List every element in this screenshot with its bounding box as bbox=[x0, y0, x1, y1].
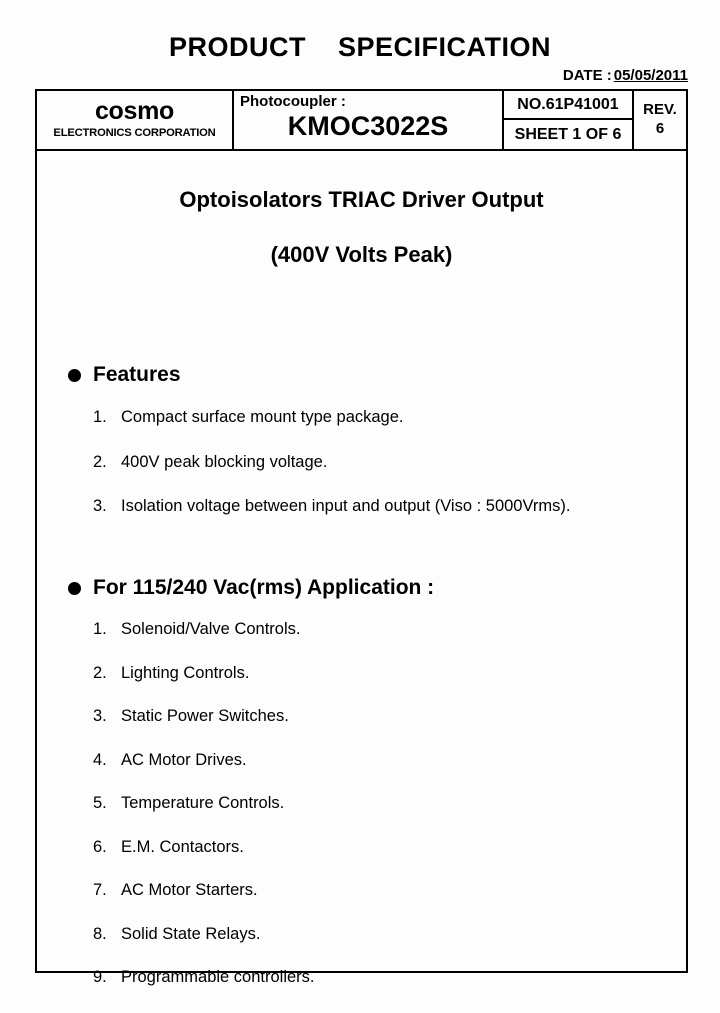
list-item-text: AC Motor Starters. bbox=[121, 882, 315, 899]
date-label: DATE : bbox=[563, 67, 612, 84]
list-item: 9. Programmable controllers. bbox=[93, 969, 315, 986]
list-item-number: 1. bbox=[93, 621, 121, 638]
list-item: 6. E.M. Contactors. bbox=[93, 839, 315, 856]
list-item-number: 4. bbox=[93, 752, 121, 769]
list-item: 8. Solid State Relays. bbox=[93, 926, 315, 943]
list-item: 2. 400V peak blocking voltage. bbox=[93, 454, 570, 471]
part-number: KMOC3022S bbox=[234, 111, 502, 142]
part-type-label: Photocoupler : bbox=[240, 93, 346, 110]
list-item-number: 2. bbox=[93, 665, 121, 682]
product-title-line-1: Optoisolators TRIAC Driver Output bbox=[37, 187, 686, 213]
list-item-number: 3. bbox=[93, 708, 121, 725]
sheet-frame: cosmo ELECTRONICS CORPORATION Photocoupl… bbox=[35, 89, 688, 973]
date-line: DATE :05/05/2011 bbox=[563, 67, 688, 84]
list-item-number: 8. bbox=[93, 926, 121, 943]
document-number-cell: NO.61P41001 SHEET 1 OF 6 bbox=[504, 91, 634, 149]
page-title: PRODUCT SPECIFICATION bbox=[0, 32, 720, 63]
revision-value: 6 bbox=[656, 120, 664, 139]
product-title-line-2: (400V Volts Peak) bbox=[37, 242, 686, 268]
date-value: 05/05/2011 bbox=[614, 67, 688, 84]
list-item-text: Solenoid/Valve Controls. bbox=[121, 621, 315, 638]
list-item-text: Temperature Controls. bbox=[121, 795, 315, 812]
applications-heading-label: For 115/240 Vac(rms) Application : bbox=[93, 576, 434, 600]
list-item-text: E.M. Contactors. bbox=[121, 839, 315, 856]
bullet-icon bbox=[68, 582, 81, 595]
applications-list: 1. Solenoid/Valve Controls. 2. Lighting … bbox=[93, 621, 315, 1013]
applications-heading: For 115/240 Vac(rms) Application : bbox=[68, 576, 434, 600]
list-item: 3. Isolation voltage between input and o… bbox=[93, 498, 570, 515]
company-cell: cosmo ELECTRONICS CORPORATION bbox=[37, 91, 234, 149]
list-item: 5. Temperature Controls. bbox=[93, 795, 315, 812]
list-item-text: AC Motor Drives. bbox=[121, 752, 315, 769]
list-item: 4. AC Motor Drives. bbox=[93, 752, 315, 769]
list-item-number: 5. bbox=[93, 795, 121, 812]
bullet-icon bbox=[68, 369, 81, 382]
revision-label: REV. bbox=[643, 101, 677, 120]
list-item: 3. Static Power Switches. bbox=[93, 708, 315, 725]
list-item: 7. AC Motor Starters. bbox=[93, 882, 315, 899]
list-item-text: Static Power Switches. bbox=[121, 708, 315, 725]
list-item-number: 2. bbox=[93, 454, 121, 471]
list-item-number: 1. bbox=[93, 409, 121, 426]
list-item-number: 6. bbox=[93, 839, 121, 856]
features-heading: Features bbox=[68, 363, 181, 387]
features-heading-label: Features bbox=[93, 363, 181, 387]
list-item: 1. Compact surface mount type package. bbox=[93, 409, 570, 426]
list-item: 1. Solenoid/Valve Controls. bbox=[93, 621, 315, 638]
identification-table: cosmo ELECTRONICS CORPORATION Photocoupl… bbox=[37, 91, 686, 151]
list-item-text: Isolation voltage between input and outp… bbox=[121, 498, 570, 515]
list-item-text: Compact surface mount type package. bbox=[121, 409, 570, 426]
list-item-number: 9. bbox=[93, 969, 121, 986]
list-item-text: 400V peak blocking voltage. bbox=[121, 454, 570, 471]
sheet-body: Optoisolators TRIAC Driver Output (400V … bbox=[37, 151, 686, 971]
list-item-text: Solid State Relays. bbox=[121, 926, 315, 943]
document-number: NO.61P41001 bbox=[504, 91, 632, 120]
list-item-text: Programmable controllers. bbox=[121, 969, 315, 986]
list-item-text: Lighting Controls. bbox=[121, 665, 315, 682]
list-item: 2. Lighting Controls. bbox=[93, 665, 315, 682]
part-cell: Photocoupler : KMOC3022S bbox=[234, 91, 504, 149]
sheet-number: SHEET 1 OF 6 bbox=[504, 120, 632, 149]
features-list: 1. Compact surface mount type package. 2… bbox=[93, 409, 570, 543]
company-logo-text: cosmo bbox=[95, 99, 174, 124]
list-item-number: 7. bbox=[93, 882, 121, 899]
revision-cell: REV. 6 bbox=[634, 91, 686, 149]
list-item-number: 3. bbox=[93, 498, 121, 515]
company-subtitle: ELECTRONICS CORPORATION bbox=[53, 128, 215, 139]
